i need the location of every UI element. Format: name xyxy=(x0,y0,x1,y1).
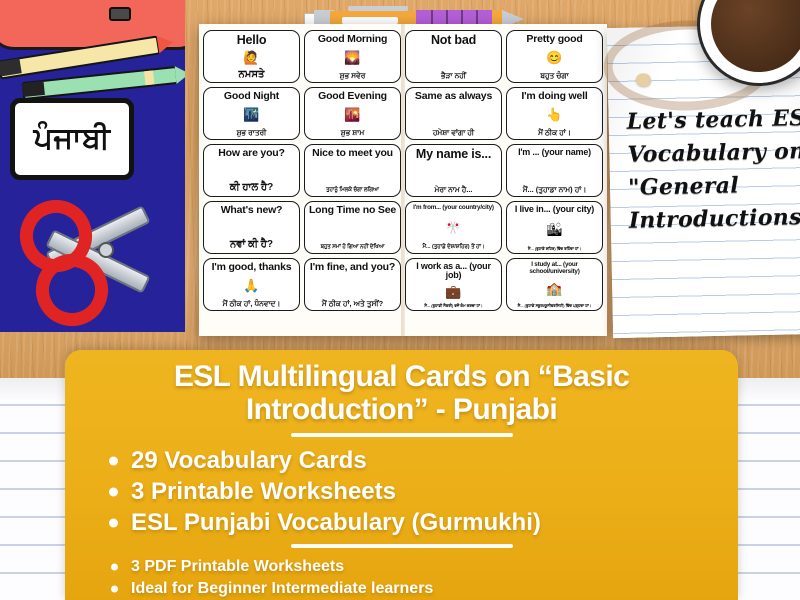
vocabulary-card: Hello🙋ਨਮਸਤੇ xyxy=(203,30,300,83)
card-english-text: How are you? xyxy=(218,148,284,159)
promo-title: ESL Multilingual Cards on “Basic Introdu… xyxy=(83,360,720,426)
poster-canvas: ਪੰਜਾਬੀ Hello🙋ਨਮਸਤੇGood Morning🌄ਸ਼ੁਭ ਸਵੇਰ… xyxy=(0,0,800,600)
vocabulary-card-grid: Hello🙋ਨਮਸਤੇGood Morning🌄ਸ਼ੁਭ ਸਵੇਰNot bad… xyxy=(203,30,603,311)
vocabulary-card: I'm good, thanks🙏ਮੈਂ ਠੀਕ ਹਾਂ, ਧੰਨਵਾਦ। xyxy=(203,258,300,311)
card-illustration-icon: 🌄 xyxy=(344,52,360,65)
divider-top xyxy=(291,433,513,437)
crumb-icon xyxy=(636,73,651,86)
card-illustration-icon: 🎌 xyxy=(445,222,461,235)
card-illustration-icon: 🏙 xyxy=(546,224,563,237)
card-illustration-icon: 💼 xyxy=(445,286,461,299)
vocabulary-card: Long Time no Seeਬਹੁਤ ਸਮਾਂ ਹੋ ਗਿਆ ਨਹੀਂ ਦੇ… xyxy=(304,201,401,254)
vocabulary-card: Good Evening🌇ਸ਼ੁਭ ਸ਼ਾਮ xyxy=(304,87,401,140)
promo-bullet-item: Ideal for Beginner Intermediate learners xyxy=(107,578,738,600)
card-english-text: Same as always xyxy=(415,91,492,102)
supplies-panel: ਪੰਜਾਬੀ xyxy=(0,0,185,332)
vocabulary-card: How are you?ਕੀ ਹਾਲ ਹੈ? xyxy=(203,144,300,197)
card-english-text: I'm good, thanks xyxy=(212,262,292,273)
promo-bullet-item: 3 PDF Printable Worksheets xyxy=(107,556,738,578)
card-english-text: Good Evening xyxy=(318,91,387,102)
vocabulary-card: I study at... (your school/university)🏫ਮ… xyxy=(506,258,603,311)
vocabulary-card: Good Morning🌄ਸ਼ੁਭ ਸਵੇਰ xyxy=(304,30,401,83)
card-english-text: I study at... (your school/university) xyxy=(510,262,599,275)
card-punjabi-text: ਮੇਰਾ ਨਾਮ ਹੈ... xyxy=(435,186,473,194)
worksheet-sheet: Hello🙋ਨਮਸਤੇGood Morning🌄ਸ਼ੁਭ ਸਵੇਰNot bad… xyxy=(199,24,607,336)
card-punjabi-text: ਮੈਂ... (ਤੁਹਾਡੇ ਸਕੂਲ/ਯੂਨੀਵਰਸਿਟੀ) ਵਿੱਚ ਪੜ੍… xyxy=(518,304,592,308)
card-english-text: I'm ... (your name) xyxy=(518,148,591,157)
card-punjabi-text: ਮੈਂ ਠੀਕ ਹਾਂ, ਅਤੇ ਤੁਸੀਂ? xyxy=(322,300,383,308)
card-punjabi-text: ਬਹੁਤ ਚੰਗਾ xyxy=(540,72,568,80)
promo-title-line-2: Introduction” - Punjabi xyxy=(83,393,720,426)
handwritten-note-text: Let's teach ESL Vocabulary on "General I… xyxy=(626,101,800,238)
vocabulary-card: Same as alwaysਹਮੇਸ਼ਾ ਵਾਂਗਾ ਹੀ xyxy=(405,87,502,140)
card-illustration-icon: 🏫 xyxy=(546,283,562,296)
vocabulary-card: I'm doing well👆ਮੈਂ ਠੀਕ ਹਾਂ। xyxy=(506,87,603,140)
scissors-icon xyxy=(14,190,164,320)
vocabulary-card: I work as a... (your job)💼ਮੈਂ... (ਤੁਹਾਡੀ… xyxy=(405,258,502,311)
card-punjabi-text: ਮੈਂ... (ਤੁਹਾਡੀ ਨੌਕਰੀ) ਵਜੋਂ ਕੰਮ ਕਰਦਾ ਹਾਂ। xyxy=(424,304,482,308)
card-punjabi-text: ਬਹੁਤ ਸਮਾਂ ਹੋ ਗਿਆ ਨਹੀਂ ਦੇਖਿਆ xyxy=(321,245,385,251)
card-english-text: What's new? xyxy=(221,205,283,216)
vocabulary-card: What's new?ਨਵਾਂ ਕੀ ਹੈ? xyxy=(203,201,300,254)
zipper-icon xyxy=(109,7,131,21)
promo-card: ESL Multilingual Cards on “Basic Introdu… xyxy=(65,350,738,600)
promo-main-bullets: 29 Vocabulary Cards3 Printable Worksheet… xyxy=(103,445,738,538)
card-illustration-icon: 😊 xyxy=(546,52,562,65)
promo-title-line-1: ESL Multilingual Cards on “Basic xyxy=(83,360,720,393)
card-illustration-icon: 🌃 xyxy=(243,109,259,122)
card-english-text: Long Time no See xyxy=(309,205,396,216)
card-english-text: Not bad xyxy=(431,34,476,47)
card-punjabi-text: ਮੈਂ... (ਤੁਹਾਡੇ ਦੇਸ਼/ਸ਼ਹਿਰ) ਤੋਂ ਹਾਂ। xyxy=(423,245,485,251)
vocabulary-card: I live in... (your city)🏙ਮੈਂ... (ਤੁਹਾਡੇ … xyxy=(506,201,603,254)
card-english-text: I'm from... (your country/city) xyxy=(413,205,494,212)
card-punjabi-text: ਸ਼ੁਭ ਰਾਤਰੀ xyxy=(237,129,267,137)
card-punjabi-text: ਨਵਾਂ ਕੀ ਹੈ? xyxy=(230,240,273,251)
card-punjabi-text: ਸ਼ੁਭ ਸ਼ਾਮ xyxy=(341,129,364,137)
card-punjabi-text: ਮੈਂ... (ਤੁਹਾਡੇ ਸ਼ਹਿਰ) ਵਿੱਚ ਰਹਿੰਦਾ ਹਾਂ। xyxy=(528,247,581,251)
divider-bottom xyxy=(291,544,513,548)
card-illustration-icon: 🙋 xyxy=(243,52,259,65)
promo-bullet-item: 29 Vocabulary Cards xyxy=(103,445,738,476)
card-english-text: I'm doing well xyxy=(521,91,587,102)
card-punjabi-text: ਮੈਂ... (ਤੁਹਾਡਾ ਨਾਮ) ਹਾਂ। xyxy=(523,186,587,194)
card-punjabi-text: ਮੈਂ ਠੀਕ ਹਾਂ। xyxy=(538,129,571,137)
card-punjabi-text: ਹਮੇਸ਼ਾ ਵਾਂਗਾ ਹੀ xyxy=(433,129,474,137)
card-illustration-icon: 🙏 xyxy=(243,280,259,293)
card-english-text: I work as a... (your job) xyxy=(409,262,498,281)
vocabulary-card: Good Night🌃ਸ਼ੁਭ ਰਾਤਰੀ xyxy=(203,87,300,140)
card-english-text: Good Night xyxy=(224,91,279,102)
card-english-text: Hello xyxy=(237,34,267,47)
card-english-text: I'm fine, and you? xyxy=(310,262,395,273)
card-punjabi-text: ਮੈਂ ਠੀਕ ਹਾਂ, ਧੰਨਵਾਦ। xyxy=(223,300,281,308)
card-english-text: Nice to meet you xyxy=(312,148,393,159)
card-english-text: Pretty good xyxy=(526,34,582,45)
card-punjabi-text: ਤੁਹਾਨੂੰ ਮਿਲਕੇ ਚੰਗਾ ਲਗਿਆ xyxy=(326,188,379,194)
vocabulary-card: I'm ... (your name)ਮੈਂ... (ਤੁਹਾਡਾ ਨਾਮ) ਹ… xyxy=(506,144,603,197)
card-english-text: Good Morning xyxy=(318,34,387,45)
card-english-text: I live in... (your city) xyxy=(515,205,594,214)
card-punjabi-text: ਭੈੜਾ ਨਹੀਂ xyxy=(441,72,466,80)
card-punjabi-text: ਸ਼ੁਭ ਸਵੇਰ xyxy=(340,72,366,80)
vocabulary-card: My name is...ਮੇਰਾ ਨਾਮ ਹੈ... xyxy=(405,144,502,197)
card-punjabi-text: ਨਮਸਤੇ xyxy=(239,70,265,81)
promo-bullet-item: ESL Punjabi Vocabulary (Gurmukhi) xyxy=(103,507,738,538)
vocabulary-card: I'm fine, and you?ਮੈਂ ਠੀਕ ਹਾਂ, ਅਤੇ ਤੁਸੀਂ… xyxy=(304,258,401,311)
card-punjabi-text: ਕੀ ਹਾਲ ਹੈ? xyxy=(230,183,273,194)
vocabulary-card: Not badਭੈੜਾ ਨਹੀਂ xyxy=(405,30,502,83)
card-english-text: My name is... xyxy=(416,148,491,161)
promo-sub-bullets: 3 PDF Printable WorksheetsIdeal for Begi… xyxy=(107,556,738,600)
card-illustration-icon: 👆 xyxy=(546,109,562,122)
promo-bullet-item: 3 Printable Worksheets xyxy=(103,476,738,507)
vocabulary-card: I'm from... (your country/city)🎌ਮੈਂ... (… xyxy=(405,201,502,254)
card-illustration-icon: 🌇 xyxy=(344,109,360,122)
vocabulary-card: Pretty good😊ਬਹੁਤ ਚੰਗਾ xyxy=(506,30,603,83)
vocabulary-card: Nice to meet youਤੁਹਾਨੂੰ ਮਿਲਕੇ ਚੰਗਾ ਲਗਿਆ xyxy=(304,144,401,197)
language-label: ਪੰਜਾਬੀ xyxy=(10,98,134,180)
